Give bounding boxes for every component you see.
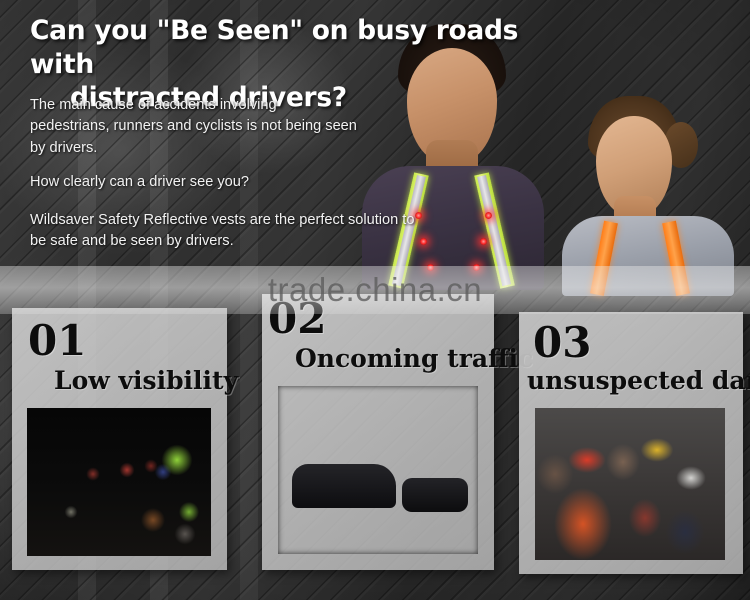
panel-number: 01 bbox=[28, 320, 86, 362]
promo-banner: Can you "Be Seen" on busy roads with dis… bbox=[0, 0, 750, 600]
panel-label: Low visibility bbox=[54, 368, 238, 393]
body-paragraph-3: Wildsaver Safety Reflective vests are th… bbox=[30, 210, 430, 253]
feature-panel-01: 01 Low visibility bbox=[12, 308, 227, 570]
watermark-text: trade.china.cn bbox=[0, 268, 750, 312]
night-traffic-accident-image bbox=[278, 386, 478, 554]
panel-photo-unsuspected-danger bbox=[535, 408, 725, 560]
panel-number: 03 bbox=[533, 322, 591, 364]
panel-photo-low-visibility bbox=[27, 408, 211, 556]
body-paragraph-2: How clearly can a driver see you? bbox=[30, 172, 380, 193]
panel-label: Oncoming traffic bbox=[295, 346, 533, 371]
feature-panel-02: 02 Oncoming traffic bbox=[262, 294, 494, 570]
panel-photo-oncoming-traffic bbox=[278, 386, 478, 554]
motorcycle-shape bbox=[402, 478, 468, 512]
rescue-workers-image bbox=[535, 408, 725, 560]
night-cyclists-image bbox=[27, 408, 211, 556]
hero-copy-block: Can you "Be Seen" on busy roads with dis… bbox=[0, 0, 560, 270]
body-paragraph-1: The main cause of accidents involving pe… bbox=[30, 95, 360, 159]
panel-label: unsuspected danger bbox=[527, 368, 750, 393]
headline-line-1: Can you "Be Seen" on busy roads with bbox=[30, 14, 550, 81]
feature-panel-03: 03 unsuspected danger bbox=[519, 312, 743, 574]
car-shape bbox=[292, 464, 396, 508]
